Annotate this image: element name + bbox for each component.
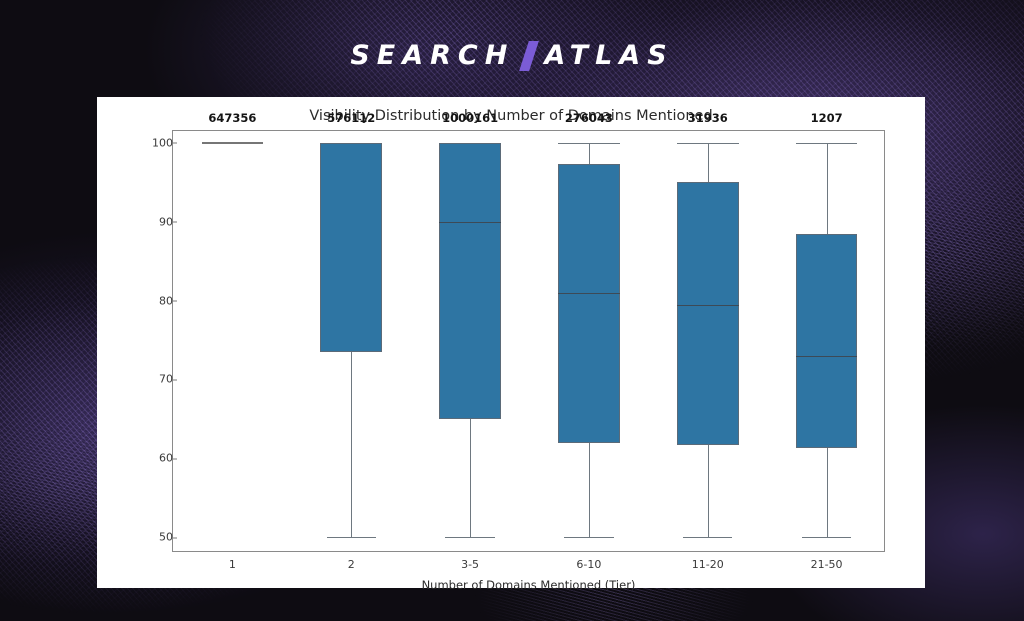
plot-area: 5060708090100 123-56-1011-2021-50 647356… [172,130,885,552]
whisker-cap-upper [796,143,858,144]
x-tick-11-20: 11-20 [692,558,724,571]
whisker-cap-lower [802,537,851,538]
logo-slash-icon [519,41,539,71]
y-axis-label: Visibility Score [111,0,133,152]
count-label-21-50: 1207 [811,111,843,125]
y-tick-label: 60 [159,452,173,465]
x-tick-2: 2 [348,558,355,571]
y-tick-100: 100 [152,136,173,149]
screenshot-root: SEARCH ATLAS Visibility Distribution by … [0,0,1024,621]
logo-word-search: SEARCH [350,40,514,71]
x-tick-6-10: 6-10 [576,558,601,571]
count-label-6-10: 276043 [565,111,613,125]
count-label-2: 576112 [327,111,375,125]
x-tick-3-5: 3-5 [461,558,479,571]
y-tick-80: 80 [159,294,173,307]
x-axis-label: Number of Domains Mentioned (Tier) [173,578,884,592]
y-tick-label: 50 [159,531,173,544]
y-tick-label: 100 [152,136,173,149]
y-tick-90: 90 [159,215,173,228]
chart-card: Visibility Distribution by Number of Dom… [97,97,925,588]
count-label-11-20: 31936 [688,111,728,125]
y-tick-label: 70 [159,373,173,386]
y-tick-70: 70 [159,373,173,386]
box-body [796,234,858,449]
y-tick-50: 50 [159,531,173,544]
y-tick-60: 60 [159,452,173,465]
y-tick-label: 90 [159,215,173,228]
box-21-50 [173,131,886,551]
x-tick-21-50: 21-50 [811,558,843,571]
count-label-3-5: 1000161 [442,111,498,125]
whisker-stem-upper [827,143,828,234]
x-tick-1: 1 [229,558,236,571]
y-tick-label: 80 [159,294,173,307]
logo-word-atlas: ATLAS [544,40,673,71]
searchatlas-logo: SEARCH ATLAS [0,40,1024,71]
count-label-1: 647356 [208,111,256,125]
whisker-stem-lower [827,448,828,537]
median-line [796,356,858,357]
